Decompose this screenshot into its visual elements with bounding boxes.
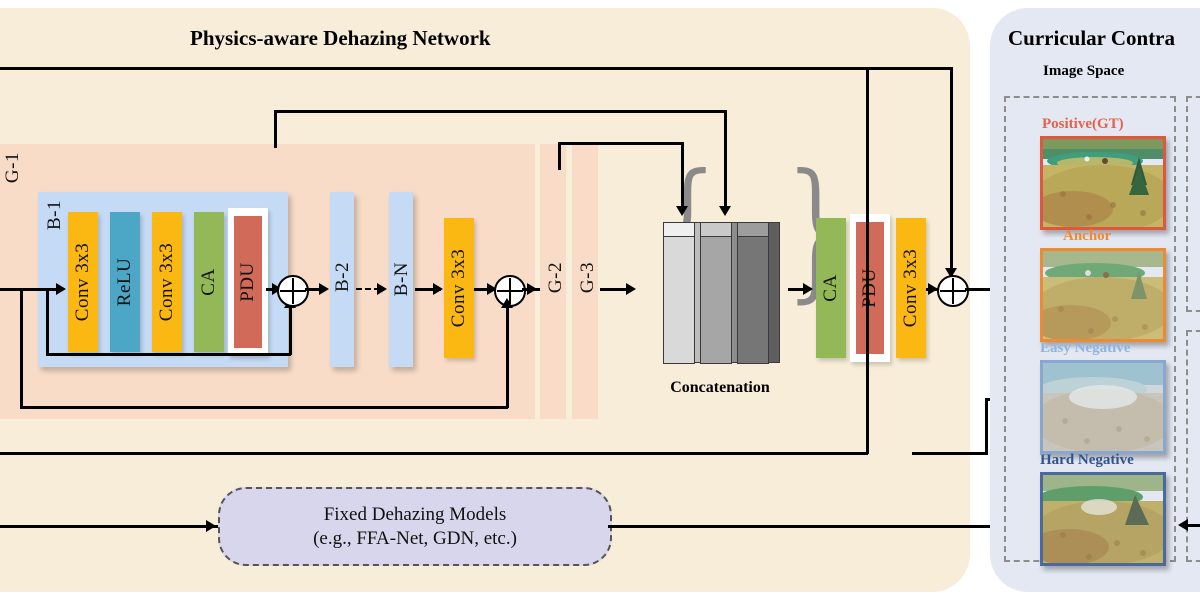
right-panel-title: Curricular Contra xyxy=(1008,26,1175,51)
easyneg-branch-h xyxy=(912,452,988,455)
input-to-fixed-models xyxy=(0,525,218,528)
skip-g2-across xyxy=(558,142,683,145)
skip-g2-down xyxy=(681,142,684,210)
layer-relu: ReLU xyxy=(110,212,140,352)
skip-global-top xyxy=(0,67,952,70)
image-easy-negative xyxy=(1040,360,1166,454)
image-anchor xyxy=(1040,248,1166,342)
layer-conv3x3-head: Conv 3x3 xyxy=(896,218,926,358)
skip-g2-up xyxy=(558,142,561,170)
b1-res-down xyxy=(46,288,49,355)
skip-g1-up xyxy=(274,110,277,148)
input-arrowhead xyxy=(56,283,66,295)
feature-space-dashed-box-bottom xyxy=(1186,330,1200,562)
block-bn-label: B-N xyxy=(391,262,413,296)
easyneg-branch-v xyxy=(985,398,988,454)
group-g1-label: G-1 xyxy=(2,152,24,183)
image-positive-gt xyxy=(1040,136,1166,230)
concat-caption: Concatenation xyxy=(650,379,790,397)
input-line xyxy=(0,288,58,291)
page-title: Physics-aware Dehazing Network xyxy=(190,26,491,51)
fixed-models-line2: (e.g., FFA-Net, GDN, etc.) xyxy=(313,527,517,551)
concat-cuboid-1 xyxy=(663,222,693,362)
fixed-dehazing-models-box[interactable]: Fixed Dehazing Models (e.g., FFA-Net, GD… xyxy=(218,487,612,566)
layer-conv3x3-tail: Conv 3x3 xyxy=(444,218,474,358)
skip-g1-across xyxy=(274,110,726,113)
concat-cuboid-3 xyxy=(737,222,767,362)
sum-final xyxy=(937,275,969,307)
b1-res-across xyxy=(46,353,291,356)
sumg1-to-g2-arrowhead xyxy=(527,283,537,295)
layer-pdu-1: PDU xyxy=(234,216,262,348)
network-outer-bottom xyxy=(0,452,868,455)
sumb1-to-b2-arrowhead xyxy=(319,283,329,295)
fixed-models-to-hardneg xyxy=(608,525,1008,528)
label-anchor: Anchor xyxy=(1063,228,1111,245)
g1-res-down xyxy=(20,288,23,408)
layer-ca-1: CA xyxy=(194,212,224,352)
skip-g1-arrowhead xyxy=(719,206,731,216)
feature-to-image-arrowhead xyxy=(1178,519,1188,531)
feature-to-image-line xyxy=(1188,524,1200,527)
fixed-models-line1: Fixed Dehazing Models xyxy=(324,503,507,527)
layer-conv3x3-1: Conv 3x3 xyxy=(68,212,98,352)
diagram-root: Physics-aware Dehazing Network G-1 G-2 G… xyxy=(0,0,1200,600)
label-hard-negative: Hard Negative xyxy=(1040,452,1134,469)
concat-to-ca-arrowhead xyxy=(803,283,813,295)
g1-res-arrowhead xyxy=(501,298,513,308)
skip-g2-arrowhead xyxy=(676,206,688,216)
label-positive-gt: Positive(GT) xyxy=(1042,116,1124,133)
group-g3-label: G-3 xyxy=(577,262,599,293)
sum-b1 xyxy=(277,275,309,307)
network-outer-right xyxy=(866,67,869,454)
block-b2-label: B-2 xyxy=(332,262,354,292)
layer-conv3x3-2: Conv 3x3 xyxy=(152,212,182,352)
layer-ca-2: CA xyxy=(816,218,846,358)
g1-res-up xyxy=(506,306,509,408)
concat-cuboid-2 xyxy=(700,222,730,362)
feature-space-dashed-box-top xyxy=(1186,96,1200,312)
g1-res-across xyxy=(20,406,508,409)
g3-to-concat-arrowhead xyxy=(626,283,636,295)
image-hard-negative xyxy=(1040,472,1166,566)
block-b1-label: B-1 xyxy=(44,200,66,230)
label-easy-negative: Easy Negative xyxy=(1040,340,1130,357)
image-space-subtitle: Image Space xyxy=(1043,63,1124,80)
layer-pdu-2: PDU xyxy=(856,222,884,354)
skip-global-down xyxy=(950,67,953,272)
b1-res-up xyxy=(289,306,292,355)
input-to-fixed-models-arrowhead xyxy=(206,520,216,532)
b2-to-bn-arrowhead xyxy=(377,283,387,295)
skip-g1-down xyxy=(724,110,727,210)
group-g2-label: G-2 xyxy=(545,262,567,293)
bn-to-conv-arrowhead xyxy=(433,283,443,295)
